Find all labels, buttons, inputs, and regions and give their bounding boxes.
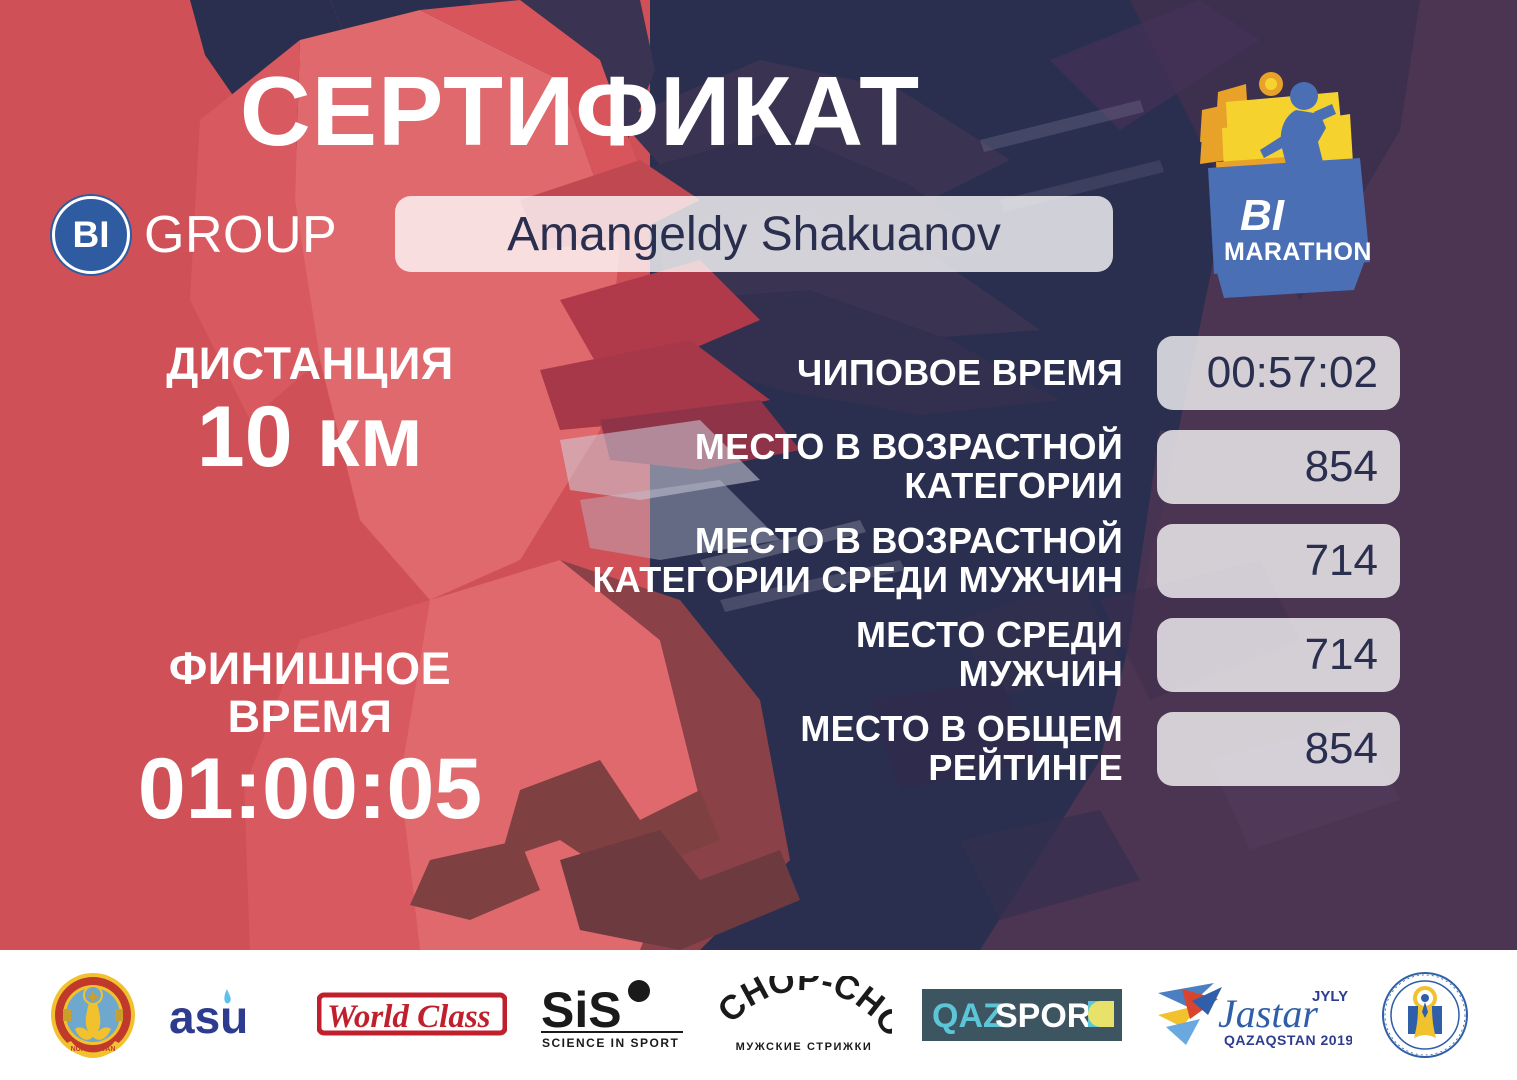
bi-marathon-line2: MARATHON bbox=[1224, 238, 1372, 266]
finish-time-value: 01:00:05 bbox=[60, 744, 560, 834]
stat-label-line1: ЧИПОВОЕ ВРЕМЯ bbox=[520, 354, 1123, 393]
jastar-superscript: JYLY bbox=[1312, 988, 1348, 1005]
sponsor-qazsport: QAZ SPORT bbox=[922, 970, 1122, 1060]
finish-time-block: ФИНИШНОЕ ВРЕМЯ 01:00:05 bbox=[60, 645, 560, 835]
distance-value: 10 км bbox=[60, 392, 560, 482]
stat-value: 854 bbox=[1305, 442, 1378, 492]
stat-label: МЕСТО В ВОЗРАСТНОЙ КАТЕГОРИИ СРЕДИ МУЖЧИ… bbox=[520, 522, 1157, 600]
jastar-logo-icon: Jastar JYLY QAZAQSTAN 2019 bbox=[1152, 975, 1352, 1055]
participant-name-badge: Amangeldy Shakuanov bbox=[395, 196, 1113, 272]
nur-sultan-label: NUR-SULTAN bbox=[71, 1046, 116, 1053]
stat-label-line2: РЕЙТИНГЕ bbox=[520, 749, 1123, 788]
bi-group-mark-icon: BI bbox=[52, 196, 130, 274]
stats-list: ЧИПОВОЕ ВРЕМЯ 00:57:02 МЕСТО В ВОЗРАСТНО… bbox=[520, 336, 1400, 806]
stat-value-pill: 00:57:02 bbox=[1157, 336, 1400, 410]
distance-block: ДИСТАНЦИЯ 10 км bbox=[60, 340, 560, 482]
finish-time-label-line2: ВРЕМЯ bbox=[60, 693, 560, 741]
sis-logo-icon: SiS SCIENCE IN SPORT bbox=[537, 979, 687, 1051]
qazsport-logo-icon: QAZ SPORT bbox=[922, 989, 1122, 1041]
bi-marathon-line1: BI bbox=[1240, 191, 1285, 240]
sponsor-jastar: Jastar JYLY QAZAQSTAN 2019 bbox=[1152, 970, 1352, 1060]
sponsor-nur-sultan: NUR-SULTAN bbox=[49, 970, 137, 1060]
stat-value: 714 bbox=[1305, 536, 1378, 586]
sponsor-world-class: World Class bbox=[317, 970, 507, 1060]
finish-time-label-line1: ФИНИШНОЕ bbox=[60, 645, 560, 693]
page-title: СЕРТИФИКАТ bbox=[0, 62, 1160, 160]
sponsor-ministry bbox=[1382, 970, 1468, 1060]
chop-chop-wordmark: CHOP-CHOP bbox=[717, 976, 892, 1044]
stat-value-pill: 854 bbox=[1157, 430, 1400, 504]
sponsor-bar: NUR-SULTAN asu World Class SiS SCIENCE I… bbox=[0, 950, 1517, 1080]
sponsor-sis: SiS SCIENCE IN SPORT bbox=[537, 970, 687, 1060]
stat-label: ЧИПОВОЕ ВРЕМЯ bbox=[520, 354, 1157, 393]
certificate-card: СЕРТИФИКАТ BI GROUP Amangeldy Shakuanov bbox=[0, 0, 1517, 1080]
world-class-logo-icon: World Class bbox=[317, 985, 507, 1045]
stat-value: 00:57:02 bbox=[1207, 348, 1378, 398]
stat-row: МЕСТО В ОБЩЕМ РЕЙТИНГЕ 854 bbox=[520, 712, 1400, 786]
stat-label-line1: МЕСТО СРЕДИ bbox=[520, 616, 1123, 655]
stat-label-line1: МЕСТО В ОБЩЕМ bbox=[520, 710, 1123, 749]
qazsport-wordmark-a: QAZ bbox=[932, 997, 1004, 1035]
distance-label: ДИСТАНЦИЯ bbox=[60, 340, 560, 388]
bi-marathon-logo-icon: BI MARATHON bbox=[1178, 62, 1398, 307]
ministry-emblem-icon bbox=[1382, 972, 1468, 1058]
jastar-subtext: QAZAQSTAN 2019 bbox=[1224, 1032, 1352, 1048]
stat-row: ЧИПОВОЕ ВРЕМЯ 00:57:02 bbox=[520, 336, 1400, 410]
sis-wordmark: SiS bbox=[541, 982, 622, 1038]
stat-value: 714 bbox=[1305, 630, 1378, 680]
bi-group-name: GROUP bbox=[144, 205, 337, 265]
sponsor-chop-chop: CHOP-CHOP МУЖСКИЕ СТРИЖКИ bbox=[717, 970, 892, 1060]
stat-label-line1: МЕСТО В ВОЗРАСТНОЙ bbox=[520, 522, 1123, 561]
bi-group-logo: BI GROUP bbox=[52, 196, 337, 274]
asu-wordmark: asu bbox=[169, 991, 248, 1043]
chop-chop-logo-icon: CHOP-CHOP МУЖСКИЕ СТРИЖКИ bbox=[717, 976, 892, 1054]
sis-tagline: SCIENCE IN SPORT bbox=[542, 1036, 679, 1050]
stat-label-line2: КАТЕГОРИИ СРЕДИ МУЖЧИН bbox=[520, 561, 1123, 600]
jastar-wordmark: Jastar bbox=[1218, 991, 1318, 1036]
stat-row: МЕСТО В ВОЗРАСТНОЙ КАТЕГОРИИ СРЕДИ МУЖЧИ… bbox=[520, 524, 1400, 598]
world-class-wordmark: World Class bbox=[327, 999, 491, 1035]
stat-value-pill: 854 bbox=[1157, 712, 1400, 786]
stat-label: МЕСТО В ВОЗРАСТНОЙ КАТЕГОРИИ bbox=[520, 428, 1157, 506]
sponsor-asu: asu bbox=[167, 970, 287, 1060]
stat-value-pill: 714 bbox=[1157, 524, 1400, 598]
stat-label-line1: МЕСТО В ВОЗРАСТНОЙ bbox=[520, 428, 1123, 467]
chop-chop-tagline: МУЖСКИЕ СТРИЖКИ bbox=[736, 1041, 873, 1053]
asu-logo-icon: asu bbox=[167, 985, 287, 1045]
stat-value-pill: 714 bbox=[1157, 618, 1400, 692]
stat-row: МЕСТО СРЕДИ МУЖЧИН 714 bbox=[520, 618, 1400, 692]
stat-label-line2: МУЖЧИН bbox=[520, 655, 1123, 694]
nur-sultan-emblem-icon: NUR-SULTAN bbox=[49, 971, 137, 1059]
participant-name: Amangeldy Shakuanov bbox=[507, 207, 1001, 262]
stat-row: МЕСТО В ВОЗРАСТНОЙ КАТЕГОРИИ 854 bbox=[520, 430, 1400, 504]
stat-label-line2: КАТЕГОРИИ bbox=[520, 467, 1123, 506]
stat-value: 854 bbox=[1305, 724, 1378, 774]
stat-label: МЕСТО СРЕДИ МУЖЧИН bbox=[520, 616, 1157, 694]
stat-label: МЕСТО В ОБЩЕМ РЕЙТИНГЕ bbox=[520, 710, 1157, 788]
